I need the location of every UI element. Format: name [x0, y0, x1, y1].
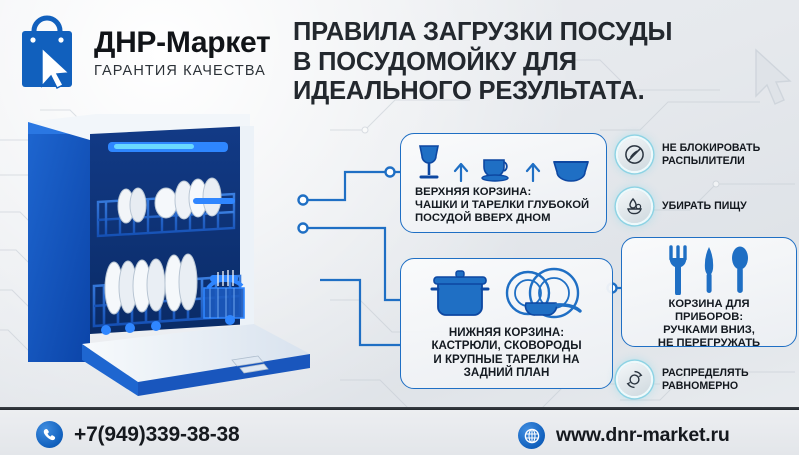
title-line-3: ИДЕАЛЬНОГО РЕЗУЛЬТАТА. [293, 77, 773, 107]
distribute-evenly-icon [618, 363, 651, 396]
lower-basket-line3: И КРУПНЫЕ ТАРЕЛКИ НА [407, 353, 606, 366]
no-block-sprayer-icon [618, 138, 651, 171]
fork-icon [668, 245, 688, 295]
upper-basket-line2: ЧАШКИ И ТАРЕЛКИ ГЛУБОКОЙ [415, 199, 599, 212]
open-dishwasher-illustration [18, 110, 318, 410]
pot-icon [430, 267, 494, 321]
tip-no-block-sprayer: НЕ БЛОКИРОВАТЬ РАСПЫЛИТЕЛИ [618, 138, 760, 171]
tip-label: НЕ БЛОКИРОВАТЬ РАСПЫЛИТЕЛИ [662, 142, 760, 168]
bowl-icon [552, 156, 590, 182]
shopping-bag-cursor-icon [16, 14, 84, 92]
cutlery-line3: РУЧКАМИ ВНИЗ, [628, 324, 790, 337]
lower-basket-line4: ЗАДНИЙ ПЛАН [407, 366, 606, 379]
cutlery-text: КОРЗИНА ДЛЯ ПРИБОРОВ: РУЧКАМИ ВНИЗ, НЕ П… [628, 298, 790, 350]
tip-scrape-food: УБИРАТЬ ПИЩУ [618, 190, 747, 223]
scrape-food-icon [618, 190, 651, 223]
upper-basket-icons [408, 142, 599, 182]
upper-basket-text: ВЕРХНЯЯ КОРЗИНА: ЧАШКИ И ТАРЕЛКИ ГЛУБОКО… [408, 186, 599, 225]
lower-basket-icons [407, 267, 606, 321]
phone-icon [36, 421, 63, 448]
page-title: ПРАВИЛА ЗАГРУЗКИ ПОСУДЫ В ПОСУДОМОЙКУ ДЛ… [293, 18, 773, 107]
brand-tagline: ГАРАНТИЯ КАЧЕСТВА [94, 64, 270, 79]
tip-label: РАСПРЕДЕЛЯТЬ РАВНОМЕРНО [662, 367, 749, 393]
cutlery-icons [628, 245, 790, 295]
phone-number: +7(949)339-38-38 [74, 423, 240, 447]
cutlery-line4: НЕ ПЕРЕГРУЖАТЬ [628, 337, 790, 350]
card-cutlery-basket: КОРЗИНА ДЛЯ ПРИБОРОВ: РУЧКАМИ ВНИЗ, НЕ П… [621, 237, 797, 347]
title-line-2: В ПОСУДОМОЙКУ ДЛЯ [293, 48, 773, 78]
title-line-1: ПРАВИЛА ЗАГРУЗКИ ПОСУДЫ [293, 18, 773, 48]
tip-label: УБИРАТЬ ПИЩУ [662, 200, 747, 213]
footer-website[interactable]: www.dnr-market.ru [518, 422, 730, 449]
upper-basket-line3: ПОСУДОЙ ВВЕРХ ДНОМ [415, 212, 599, 225]
cup-saucer-icon [480, 152, 514, 182]
infographic-page: ДНР-Маркет ГАРАНТИЯ КАЧЕСТВА ПРАВИЛА ЗАГ… [0, 0, 799, 455]
arrow-up-icon [452, 162, 470, 182]
cutlery-line2: ПРИБОРОВ: [628, 311, 790, 324]
wine-glass-icon [416, 142, 442, 182]
website-url: www.dnr-market.ru [556, 424, 730, 447]
arrow-up-icon [524, 162, 542, 182]
tip-distribute-evenly: РАСПРЕДЕЛЯТЬ РАВНОМЕРНО [618, 363, 749, 396]
frying-pan-icon [522, 297, 584, 323]
globe-icon [518, 422, 545, 449]
spoon-icon [730, 245, 750, 295]
lower-basket-title: НИЖНЯЯ КОРЗИНА: [407, 326, 606, 339]
knife-icon [702, 245, 716, 295]
card-lower-basket: НИЖНЯЯ КОРЗИНА: КАСТРЮЛИ, СКОВОРОДЫ И КР… [400, 258, 613, 389]
cutlery-title: КОРЗИНА ДЛЯ [628, 298, 790, 311]
lower-basket-text: НИЖНЯЯ КОРЗИНА: КАСТРЮЛИ, СКОВОРОДЫ И КР… [407, 326, 606, 380]
card-upper-basket: ВЕРХНЯЯ КОРЗИНА: ЧАШКИ И ТАРЕЛКИ ГЛУБОКО… [400, 133, 607, 233]
brand-logo[interactable]: ДНР-Маркет ГАРАНТИЯ КАЧЕСТВА [16, 14, 270, 92]
brand-name: ДНР-Маркет [94, 28, 270, 58]
footer-phone[interactable]: +7(949)339-38-38 [36, 421, 240, 448]
lower-basket-line2: КАСТРЮЛИ, СКОВОРОДЫ [407, 339, 606, 352]
upper-basket-title: ВЕРХНЯЯ КОРЗИНА: [415, 186, 599, 199]
